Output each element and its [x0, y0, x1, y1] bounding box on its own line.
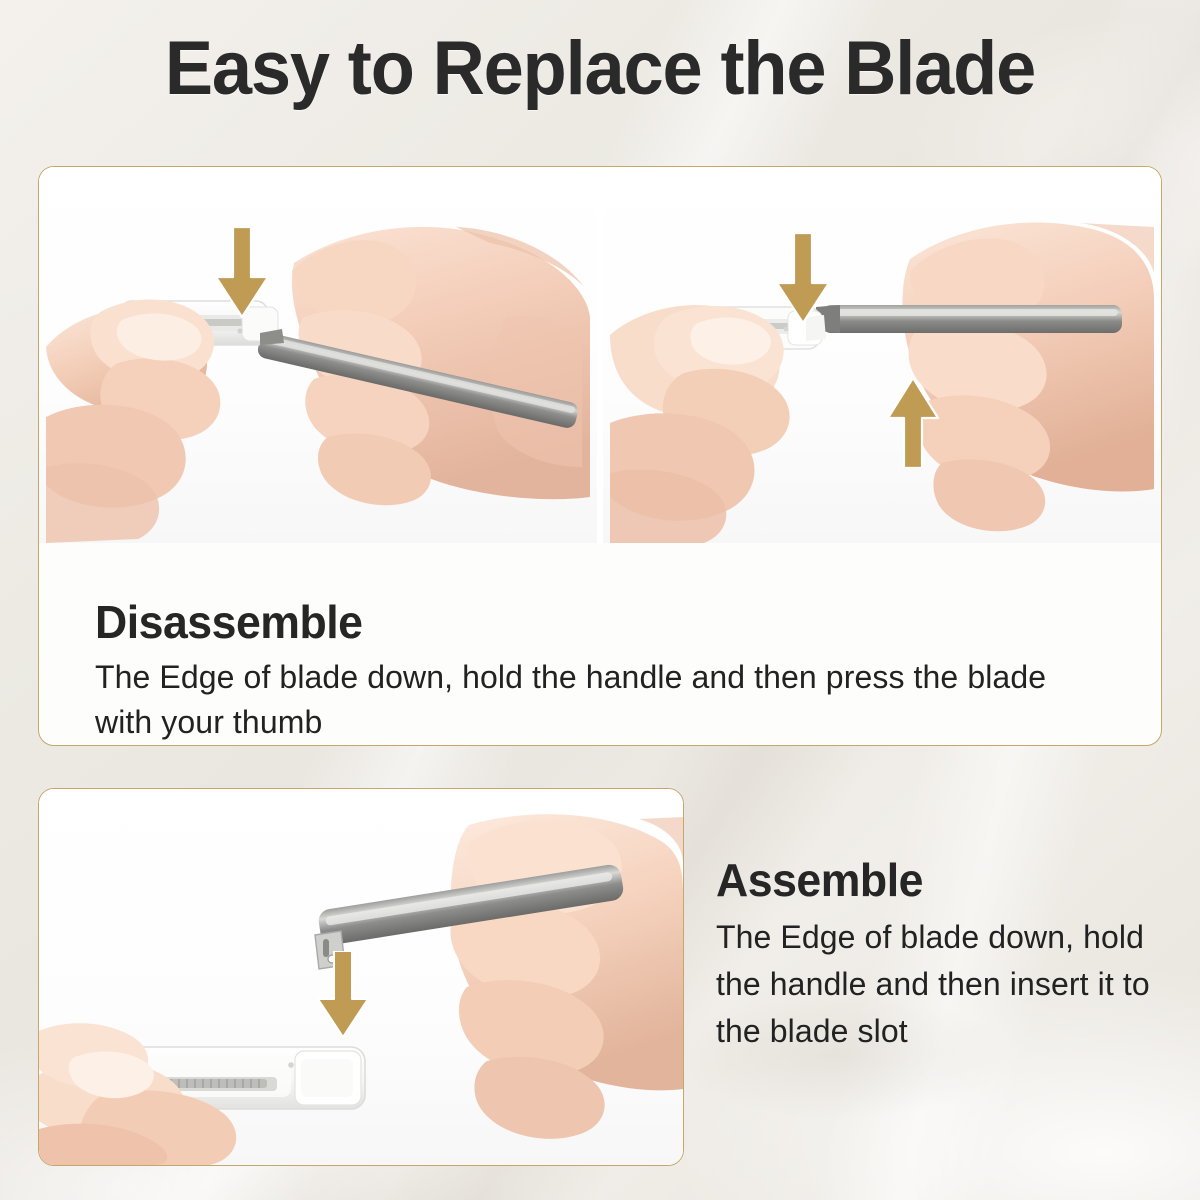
razor-handle [816, 305, 1122, 333]
card-assemble [38, 788, 684, 1166]
photo-disassemble-step2-illustration [603, 167, 1161, 543]
caption-disassemble: Disassemble The Edge of blade down, hold… [39, 581, 1161, 745]
caption-body: The Edge of blade down, hold the handle … [716, 914, 1186, 1055]
press-down-arrow [775, 233, 831, 325]
photo-assemble-step1 [39, 789, 683, 1165]
left-hand-pressing-thumb [46, 300, 220, 543]
photo-disassemble-step1-illustration [39, 167, 597, 543]
caption-heading: Assemble [716, 852, 1172, 908]
caption-body: The Edge of blade down, hold the handle … [95, 655, 1105, 745]
right-hand-holding-handle [450, 814, 683, 1139]
push-up-arrow [886, 378, 940, 468]
photo-disassemble-step1 [39, 167, 597, 543]
photo-row-disassemble [39, 167, 1161, 543]
left-hand-supporting [610, 305, 790, 543]
card-disassemble: Disassemble The Edge of blade down, hold… [38, 166, 1162, 746]
insert-down-arrow [316, 951, 370, 1039]
page-title: Easy to Replace the Blade [30, 26, 1170, 112]
caption-heading: Disassemble [95, 595, 1075, 649]
press-down-arrow [214, 227, 270, 319]
photo-disassemble-step2 [603, 167, 1161, 543]
caption-assemble: Assemble The Edge of blade down, hold th… [716, 852, 1186, 1055]
right-hand-holding-handle [903, 222, 1154, 531]
